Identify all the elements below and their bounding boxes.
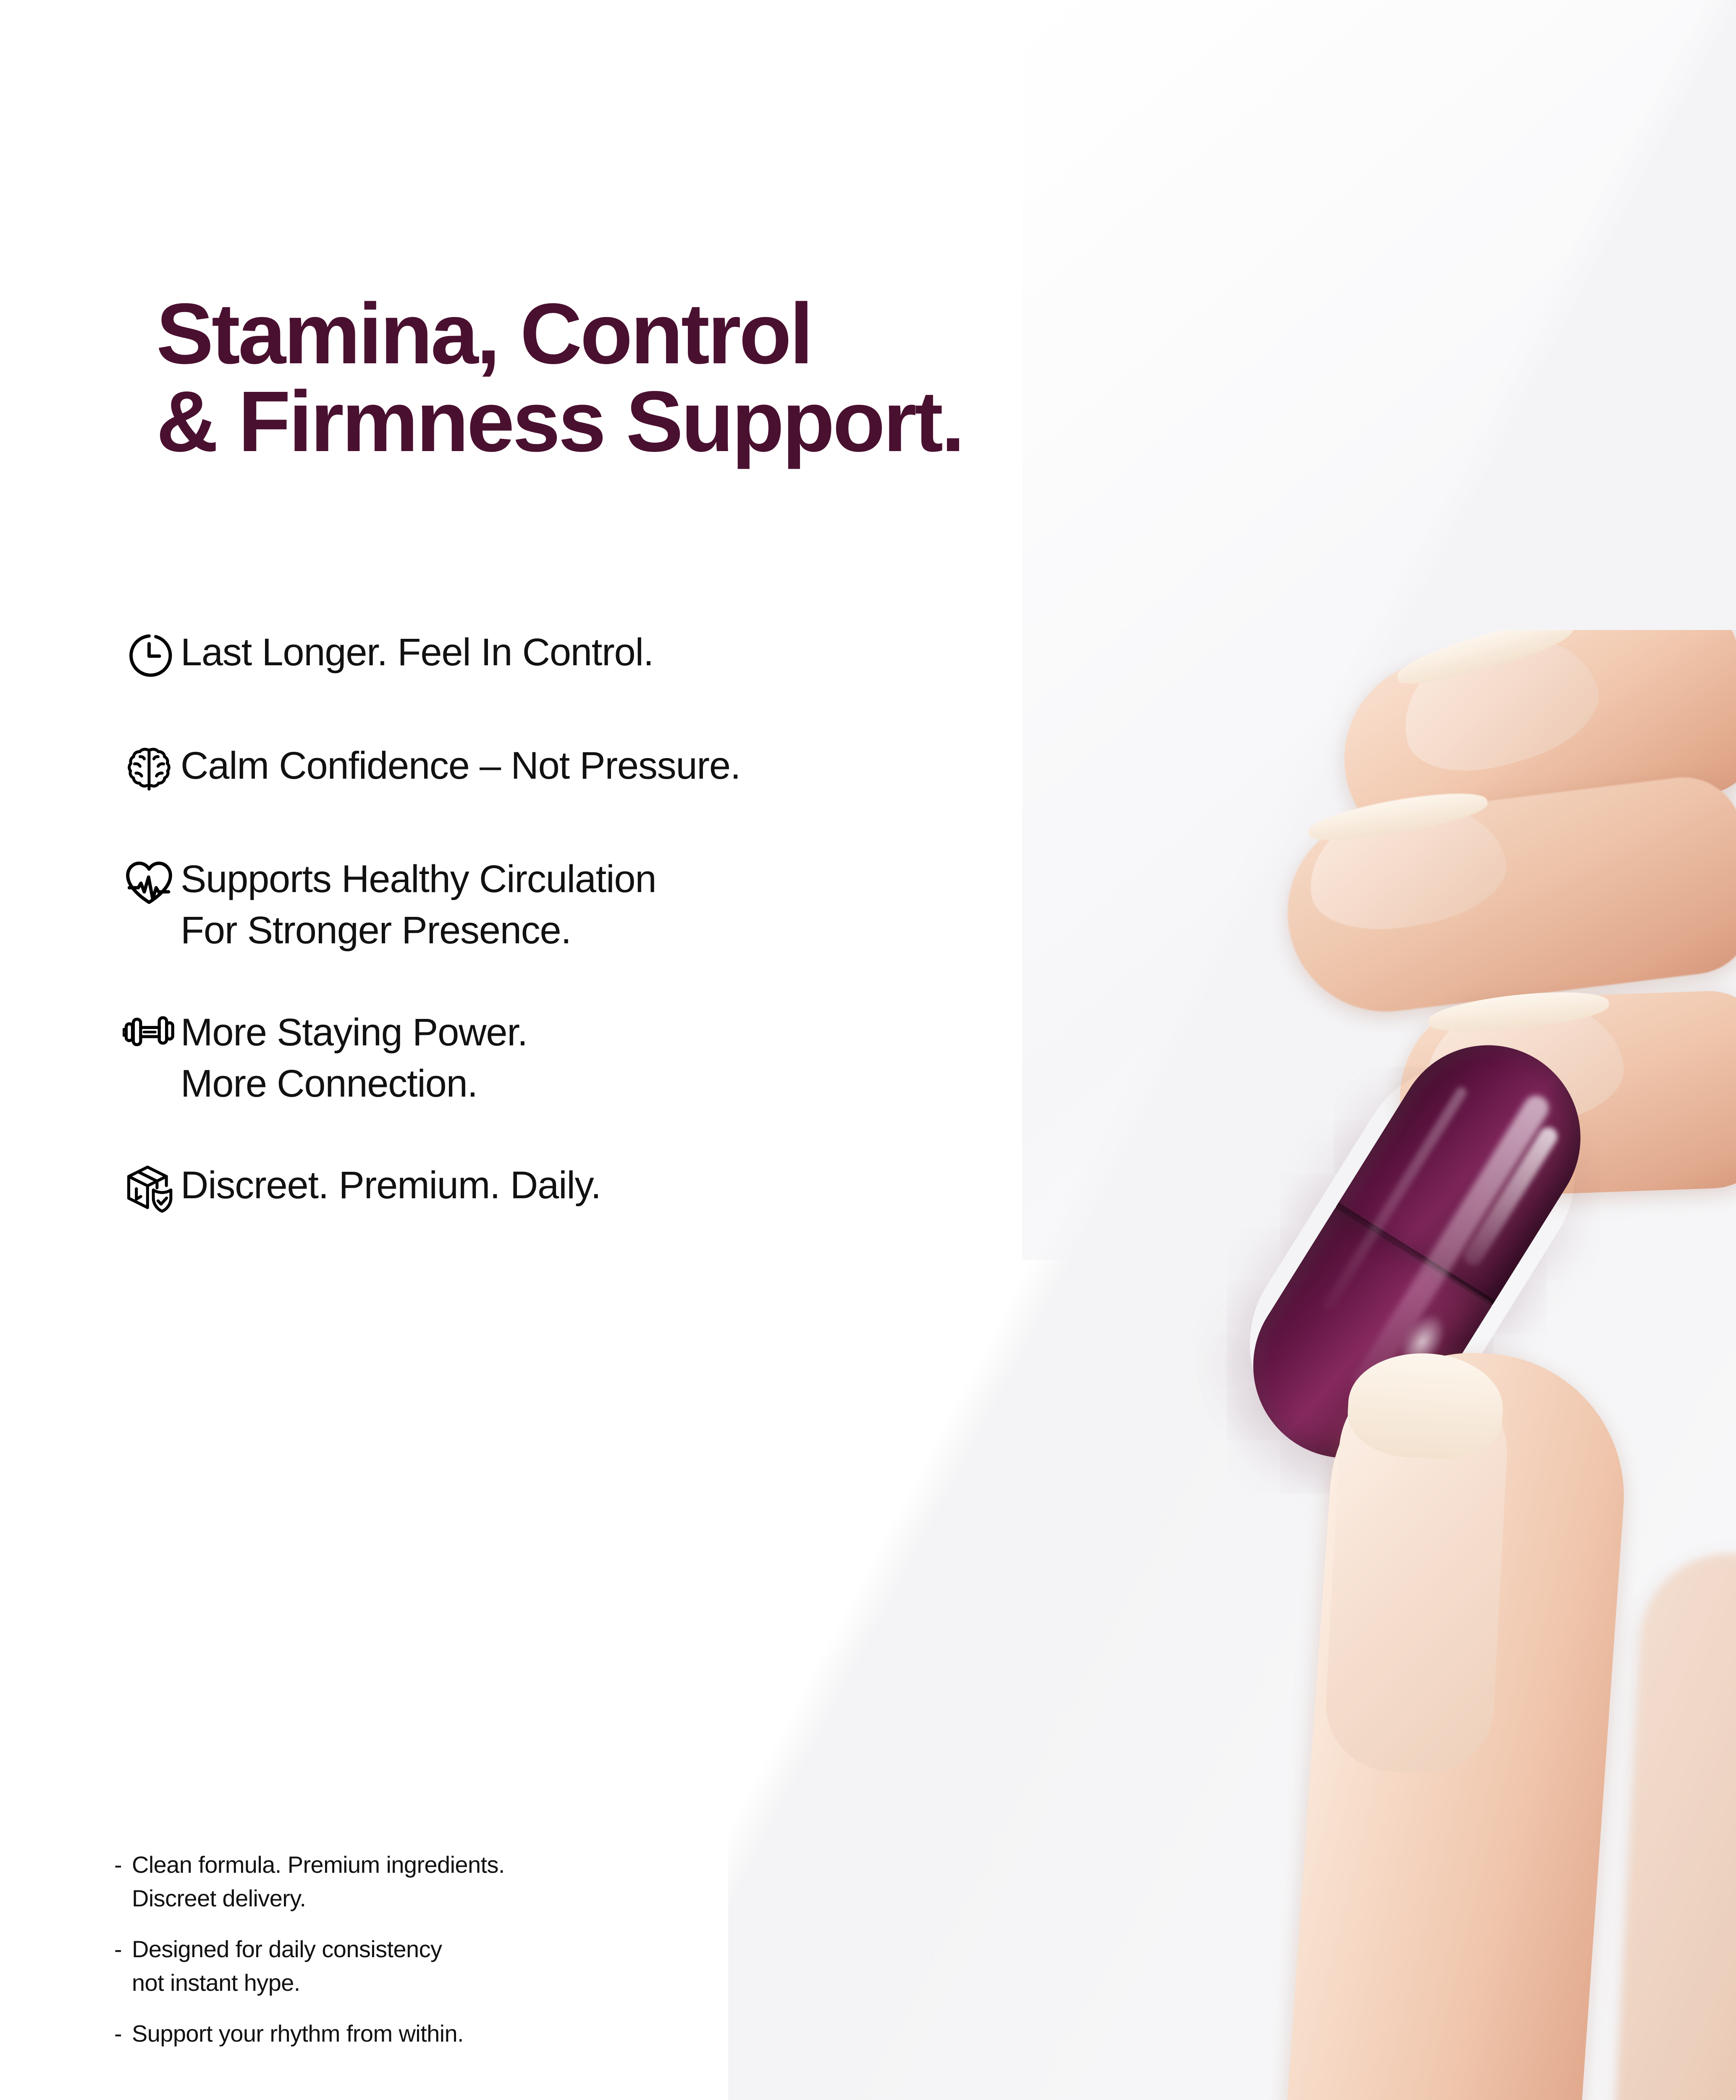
- index-finger: [1324, 630, 1736, 879]
- thumb: [1276, 1343, 1634, 2100]
- package-shield-icon: [118, 1159, 181, 1223]
- capsule-highlight: [1322, 1085, 1469, 1312]
- note-dash: -: [114, 1848, 129, 1882]
- capsule-highlight: [1350, 1091, 1553, 1396]
- note-text: Designed for daily consistency not insta…: [132, 1932, 442, 1999]
- benefit-text: Calm Confidence – Not Pressure.: [181, 739, 740, 791]
- note-dash: -: [114, 1932, 129, 1966]
- background-finger: [1608, 1550, 1736, 2100]
- note-dash: -: [114, 2017, 129, 2050]
- middle-fingernail: [1298, 788, 1514, 942]
- benefit-text: More Staying Power. More Connection.: [181, 1006, 527, 1110]
- benefit-item: Discreet. Premium. Daily.: [118, 1159, 1251, 1223]
- product-poster: Stamina, Control & Firmness Support. Las…: [0, 0, 1736, 2100]
- benefit-text: Supports Healthy Circulation For Stronge…: [181, 853, 656, 956]
- ring-fingernail: [1419, 990, 1629, 1135]
- ring-finger: [1397, 989, 1736, 1199]
- benefit-item: Last Longer. Feel In Control.: [118, 626, 1251, 690]
- thumbnail: [1322, 1365, 1511, 1777]
- index-fingernail: [1387, 630, 1611, 789]
- dumbbell-icon: [118, 1006, 181, 1070]
- heart-pulse-icon: [118, 853, 181, 916]
- capsule-cap: [1334, 1010, 1615, 1307]
- capsule-body: [1218, 1205, 1493, 1493]
- middle-finger: [1276, 771, 1736, 1023]
- page-title: Stamina, Control & Firmness Support.: [156, 290, 1416, 465]
- benefit-text: Last Longer. Feel In Control.: [181, 626, 653, 678]
- capsule-highlight: [1461, 1124, 1561, 1269]
- benefit-item: Supports Healthy Circulation For Stronge…: [118, 853, 1251, 956]
- footer-notes: - Clean formula. Premium ingredients. Di…: [114, 1848, 912, 2068]
- note-text: Clean formula. Premium ingredients. Disc…: [132, 1848, 505, 1915]
- benefit-text: Discreet. Premium. Daily.: [181, 1159, 601, 1211]
- benefit-list: Last Longer. Feel In Control. Calm Confi…: [118, 626, 1251, 1272]
- capsule-seam: [1335, 1202, 1495, 1306]
- note-text: Support your rhythm from within.: [132, 2017, 464, 2050]
- benefit-item: Calm Confidence – Not Pressure.: [118, 739, 1251, 803]
- capsule-highlight: [1390, 1305, 1455, 1378]
- capsule-shadow: [1209, 1023, 1616, 1495]
- footer-note: - Designed for daily consistency not ins…: [114, 1932, 912, 1999]
- footer-note: - Support your rhythm from within.: [114, 2017, 912, 2050]
- clock-icon: [118, 626, 181, 690]
- brain-icon: [118, 739, 181, 803]
- benefit-item: More Staying Power. More Connection.: [118, 1006, 1251, 1110]
- footer-note: - Clean formula. Premium ingredients. Di…: [114, 1848, 912, 1915]
- capsule-pill: [1218, 1010, 1615, 1493]
